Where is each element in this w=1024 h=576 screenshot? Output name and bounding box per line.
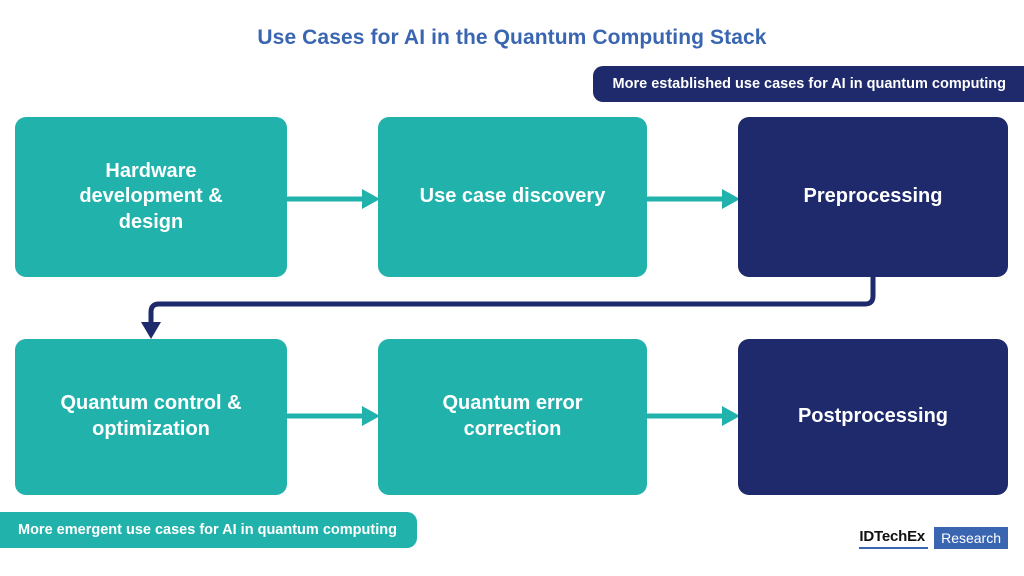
connector-preprocessing-to-quantum-control	[141, 277, 873, 339]
connector-hardware-to-discovery	[287, 189, 380, 209]
connector-quantum-control-to-error-correction	[287, 406, 380, 426]
node-quantum-error-correction[interactable]: Quantum error correction	[378, 339, 647, 495]
node-use-case-discovery[interactable]: Use case discovery	[378, 117, 647, 277]
node-hardware-development-design[interactable]: Hardware development & design	[15, 117, 287, 277]
node-postprocessing[interactable]: Postprocessing	[738, 339, 1008, 495]
node-label: Quantum error correction	[442, 391, 582, 442]
node-label: Postprocessing	[798, 404, 948, 430]
node-label: Use case discovery	[420, 184, 606, 210]
node-label: Quantum control & optimization	[60, 391, 241, 442]
node-preprocessing[interactable]: Preprocessing	[738, 117, 1008, 277]
connector-error-correction-to-postprocessing	[647, 406, 740, 426]
node-label: Hardware development & design	[79, 159, 222, 236]
node-quantum-control-optimization[interactable]: Quantum control & optimization	[15, 339, 287, 495]
node-label: Preprocessing	[804, 184, 943, 210]
connector-discovery-to-preprocessing	[647, 189, 740, 209]
